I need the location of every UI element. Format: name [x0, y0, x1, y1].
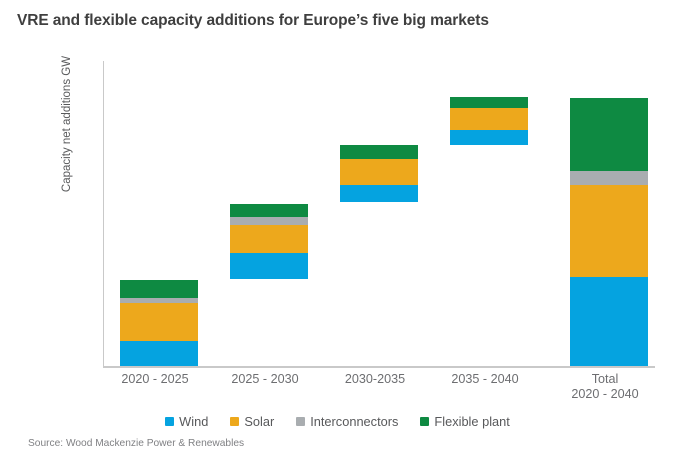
x-tick-total: Total 2020 - 2040	[550, 372, 660, 402]
x-tick-2035-2040: 2035 - 2040	[430, 372, 540, 387]
bar-segment-wind	[340, 185, 418, 202]
bar-segment-flexible-plant	[570, 98, 648, 171]
bar-segment-wind	[120, 341, 198, 366]
bar-total-2020-2040[interactable]	[570, 98, 648, 366]
bar-segment-flexible-plant	[120, 280, 198, 298]
bar-segment-solar	[120, 303, 198, 341]
bar-segment-interconnectors	[120, 298, 198, 303]
bar-2030-2035[interactable]	[340, 145, 418, 202]
legend-swatch-flexible-plant-icon	[420, 417, 429, 426]
bar-segment-wind	[570, 277, 648, 366]
bar-segment-flexible-plant	[340, 145, 418, 159]
bar-2035-2040[interactable]	[450, 97, 528, 145]
bar-segment-flexible-plant	[450, 97, 528, 108]
legend-item-flexible-plant[interactable]: Flexible plant	[420, 414, 509, 429]
bar-segment-wind	[450, 130, 528, 145]
x-tick-2020-2025: 2020 - 2025	[100, 372, 210, 387]
bar-segment-wind	[230, 253, 308, 279]
legend-swatch-solar-icon	[230, 417, 239, 426]
legend-label-solar: Solar	[244, 414, 274, 429]
chart-title: VRE and flexible capacity additions for …	[17, 12, 489, 30]
bar-2025-2030[interactable]	[230, 204, 308, 279]
legend-label-flexible-plant: Flexible plant	[434, 414, 509, 429]
chart-legend: Wind Solar Interconnectors Flexible plan…	[0, 414, 675, 429]
legend-item-wind[interactable]: Wind	[165, 414, 208, 429]
bar-segment-solar	[570, 185, 648, 277]
legend-label-interconnectors: Interconnectors	[310, 414, 398, 429]
y-axis-title: Capacity net additions GW	[61, 19, 73, 229]
bar-segment-interconnectors	[570, 171, 648, 186]
bar-segment-solar	[450, 108, 528, 130]
x-tick-2025-2030: 2025 - 2030	[210, 372, 320, 387]
x-axis-line	[103, 366, 655, 368]
bar-2020-2025[interactable]	[120, 280, 198, 366]
legend-label-wind: Wind	[179, 414, 208, 429]
bar-segment-solar	[340, 159, 418, 185]
legend-item-interconnectors[interactable]: Interconnectors	[296, 414, 398, 429]
source-note: Source: Wood Mackenzie Power & Renewable…	[28, 438, 244, 449]
bar-segment-flexible-plant	[230, 204, 308, 217]
x-tick-2030-2035: 2030-2035	[320, 372, 430, 387]
plot-area	[104, 62, 654, 366]
legend-item-solar[interactable]: Solar	[230, 414, 274, 429]
bar-segment-interconnectors	[230, 217, 308, 225]
chart-figure: VRE and flexible capacity additions for …	[0, 0, 675, 460]
bar-segment-solar	[230, 225, 308, 253]
legend-swatch-interconnectors-icon	[296, 417, 305, 426]
legend-swatch-wind-icon	[165, 417, 174, 426]
